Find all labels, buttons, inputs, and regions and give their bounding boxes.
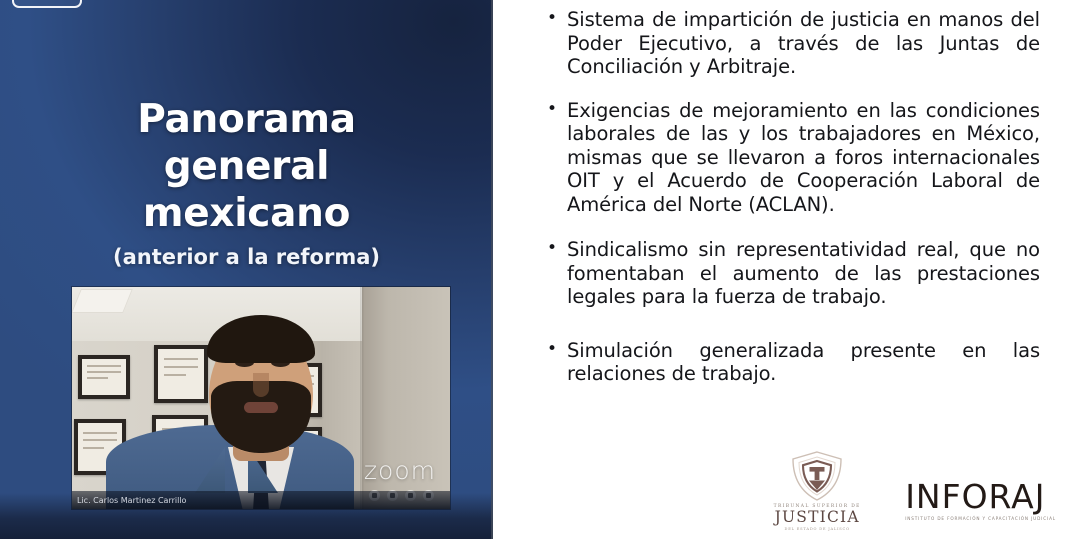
zoom-watermark: zoom bbox=[364, 456, 436, 485]
participant-name-label: Lic. Carlos Martinez Carrillo bbox=[72, 496, 186, 505]
inforaj-subtitle: INSTITUTO DE FORMACIÓN Y CAPACITACIÓN JU… bbox=[905, 516, 1056, 521]
screen-share-view: Panorama general mexicano (anterior a la… bbox=[0, 0, 1080, 539]
justicia-logo: TRIBUNAL SUPERIOR DE JUSTICIA DEL ESTADO… bbox=[765, 450, 869, 531]
slide-title-line-1: Panorama bbox=[26, 96, 467, 143]
hair bbox=[207, 315, 315, 363]
justicia-foot-text: DEL ESTADO DE JALISCO bbox=[785, 527, 850, 531]
inforaj-logo: INFORAJ INSTITUTO DE FORMACIÓN Y CAPACIT… bbox=[905, 480, 1056, 531]
presentation-video-panel: Panorama general mexicano (anterior a la… bbox=[0, 0, 493, 539]
justicia-name: JUSTICIA bbox=[775, 509, 860, 526]
shield-icon bbox=[789, 450, 845, 502]
inforaj-wordmark: INFORAJ bbox=[905, 480, 1045, 514]
nose bbox=[253, 373, 269, 397]
top-left-chip[interactable] bbox=[12, 0, 82, 8]
webcam-video-tile[interactable]: zoom Lic. Carlos Martinez Carrillo bbox=[72, 287, 450, 509]
mouth bbox=[244, 402, 278, 413]
logo-row: TRIBUNAL SUPERIOR DE JUSTICIA DEL ESTADO… bbox=[545, 450, 1056, 531]
bullet-list: Sistema de impartición de justicia en ma… bbox=[545, 8, 1040, 386]
bullet-item: Sindicalismo sin representatividad real,… bbox=[545, 238, 1040, 309]
slide-title-block: Panorama general mexicano (anterior a la… bbox=[0, 96, 493, 270]
slide-content-panel: Sistema de impartición de justicia en ma… bbox=[493, 0, 1080, 539]
slide-title-line-2: general bbox=[26, 143, 467, 190]
bullet-item: Simulación generalizada presente en las … bbox=[545, 339, 1040, 386]
bullet-item: Sistema de impartición de justicia en ma… bbox=[545, 8, 1040, 79]
slide-title-line-3: mexicano bbox=[26, 190, 467, 237]
participant-name-bar: Lic. Carlos Martinez Carrillo bbox=[72, 491, 450, 509]
slide-subtitle: (anterior a la reforma) bbox=[26, 245, 467, 270]
bullet-item: Exigencias de mejoramiento en las condic… bbox=[545, 99, 1040, 217]
panel-divider bbox=[491, 0, 493, 539]
